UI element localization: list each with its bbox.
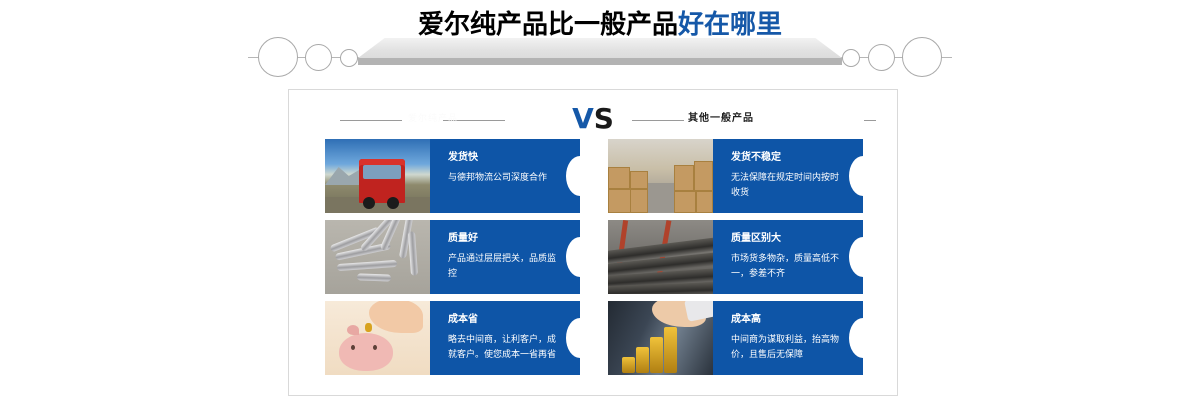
vs-label-right: 其他一般产品 (688, 111, 754, 127)
card-title: 质量区别大 (731, 232, 781, 245)
list-item[interactable]: 发货不稳定 无法保障在规定时间内按时收货 (608, 139, 863, 213)
card-thumbnail (325, 301, 430, 375)
card-body: 发货快 与德邦物流公司深度合作 (430, 139, 580, 213)
decor-circle-right-medium (868, 44, 895, 71)
card-desc: 市场货多物杂，质量高低不一，参差不齐 (731, 252, 843, 282)
page-title: 爱尔纯产品比一般产品好在哪里 (0, 10, 1200, 40)
card-thumbnail (325, 139, 430, 213)
decor-circle-left-medium (305, 44, 332, 71)
list-item[interactable]: 成本高 中间商为谋取利益，抬高物价，且售后无保障 (608, 301, 863, 375)
card-title: 成本高 (731, 313, 761, 326)
page-title-main: 爱尔纯产品比一般产品 (418, 10, 678, 40)
card-thumbnail (608, 220, 713, 294)
card-desc: 无法保障在规定时间内按时收货 (731, 171, 843, 201)
vs-rule-right-inner (632, 120, 684, 121)
left-advantages-column: 发货快 与德邦物流公司深度合作 质量好 产品通过层层把关，品质监控 (325, 139, 580, 382)
card-desc: 略去中间商，让利客户，成就客户。使您成本一省再省 (448, 333, 560, 363)
decor-circle-left-large (258, 37, 298, 77)
card-title: 发货快 (448, 151, 478, 164)
decor-circle-left-small (340, 49, 358, 67)
card-thumbnail (608, 301, 713, 375)
title-plate (358, 38, 842, 58)
card-desc: 产品通过层层把关，品质监控 (448, 252, 560, 282)
list-item[interactable]: 发货快 与德邦物流公司深度合作 (325, 139, 580, 213)
decor-circle-right-large (902, 37, 942, 77)
list-item[interactable]: 质量好 产品通过层层把关，品质监控 (325, 220, 580, 294)
card-title: 质量好 (448, 232, 478, 245)
card-title: 发货不稳定 (731, 151, 781, 164)
list-item[interactable]: 成本省 略去中间商，让利客户，成就客户。使您成本一省再省 (325, 301, 580, 375)
vs-rule-left-outer (340, 120, 402, 121)
page-title-accent: 好在哪里 (678, 10, 782, 40)
hand-dropping-coin-into-piggy-bank-photo (325, 301, 430, 375)
list-item[interactable]: 质量区别大 市场货多物杂，质量高低不一，参差不齐 (608, 220, 863, 294)
card-desc: 中间商为谋取利益，抬高物价，且售后无保障 (731, 333, 843, 363)
card-body: 质量好 产品通过层层把关，品质监控 (430, 220, 580, 294)
card-notch (566, 156, 580, 196)
card-body: 成本高 中间商为谋取利益，抬高物价，且售后无保障 (713, 301, 863, 375)
card-notch (566, 318, 580, 358)
vs-badge: VS (572, 103, 614, 135)
stacked-black-pipes-photo (608, 220, 713, 294)
card-notch (849, 318, 863, 358)
title-plate-base (358, 58, 842, 65)
red-truck-on-highway-photo (325, 139, 430, 213)
versus-row: 爱尔纯产品 VS 其他一般产品 (288, 103, 898, 137)
vs-rule-right-outer (864, 120, 876, 121)
vs-letter-s: S (594, 102, 614, 135)
vs-letter-v: V (572, 102, 594, 135)
right-disadvantages-column: 发货不稳定 无法保障在规定时间内按时收货 质量区别大 市场货多物杂，质量高低不一… (608, 139, 863, 382)
page-header: 爱尔纯产品比一般产品好在哪里 (0, 0, 1200, 80)
card-title: 成本省 (448, 313, 478, 326)
decor-circle-right-small (842, 49, 860, 67)
card-thumbnail (325, 220, 430, 294)
card-body: 成本省 略去中间商，让利客户，成就客户。使您成本一省再省 (430, 301, 580, 375)
stainless-steel-tubes-photo (325, 220, 430, 294)
warehouse-cardboard-boxes-photo (608, 139, 713, 213)
card-thumbnail (608, 139, 713, 213)
hand-stacking-gold-coins-photo (608, 301, 713, 375)
card-notch (849, 237, 863, 277)
card-body: 质量区别大 市场货多物杂，质量高低不一，参差不齐 (713, 220, 863, 294)
card-desc: 与德邦物流公司深度合作 (448, 171, 560, 186)
vs-label-left: 爱尔纯产品 (408, 112, 440, 126)
card-body: 发货不稳定 无法保障在规定时间内按时收货 (713, 139, 863, 213)
card-notch (566, 237, 580, 277)
card-notch (849, 156, 863, 196)
